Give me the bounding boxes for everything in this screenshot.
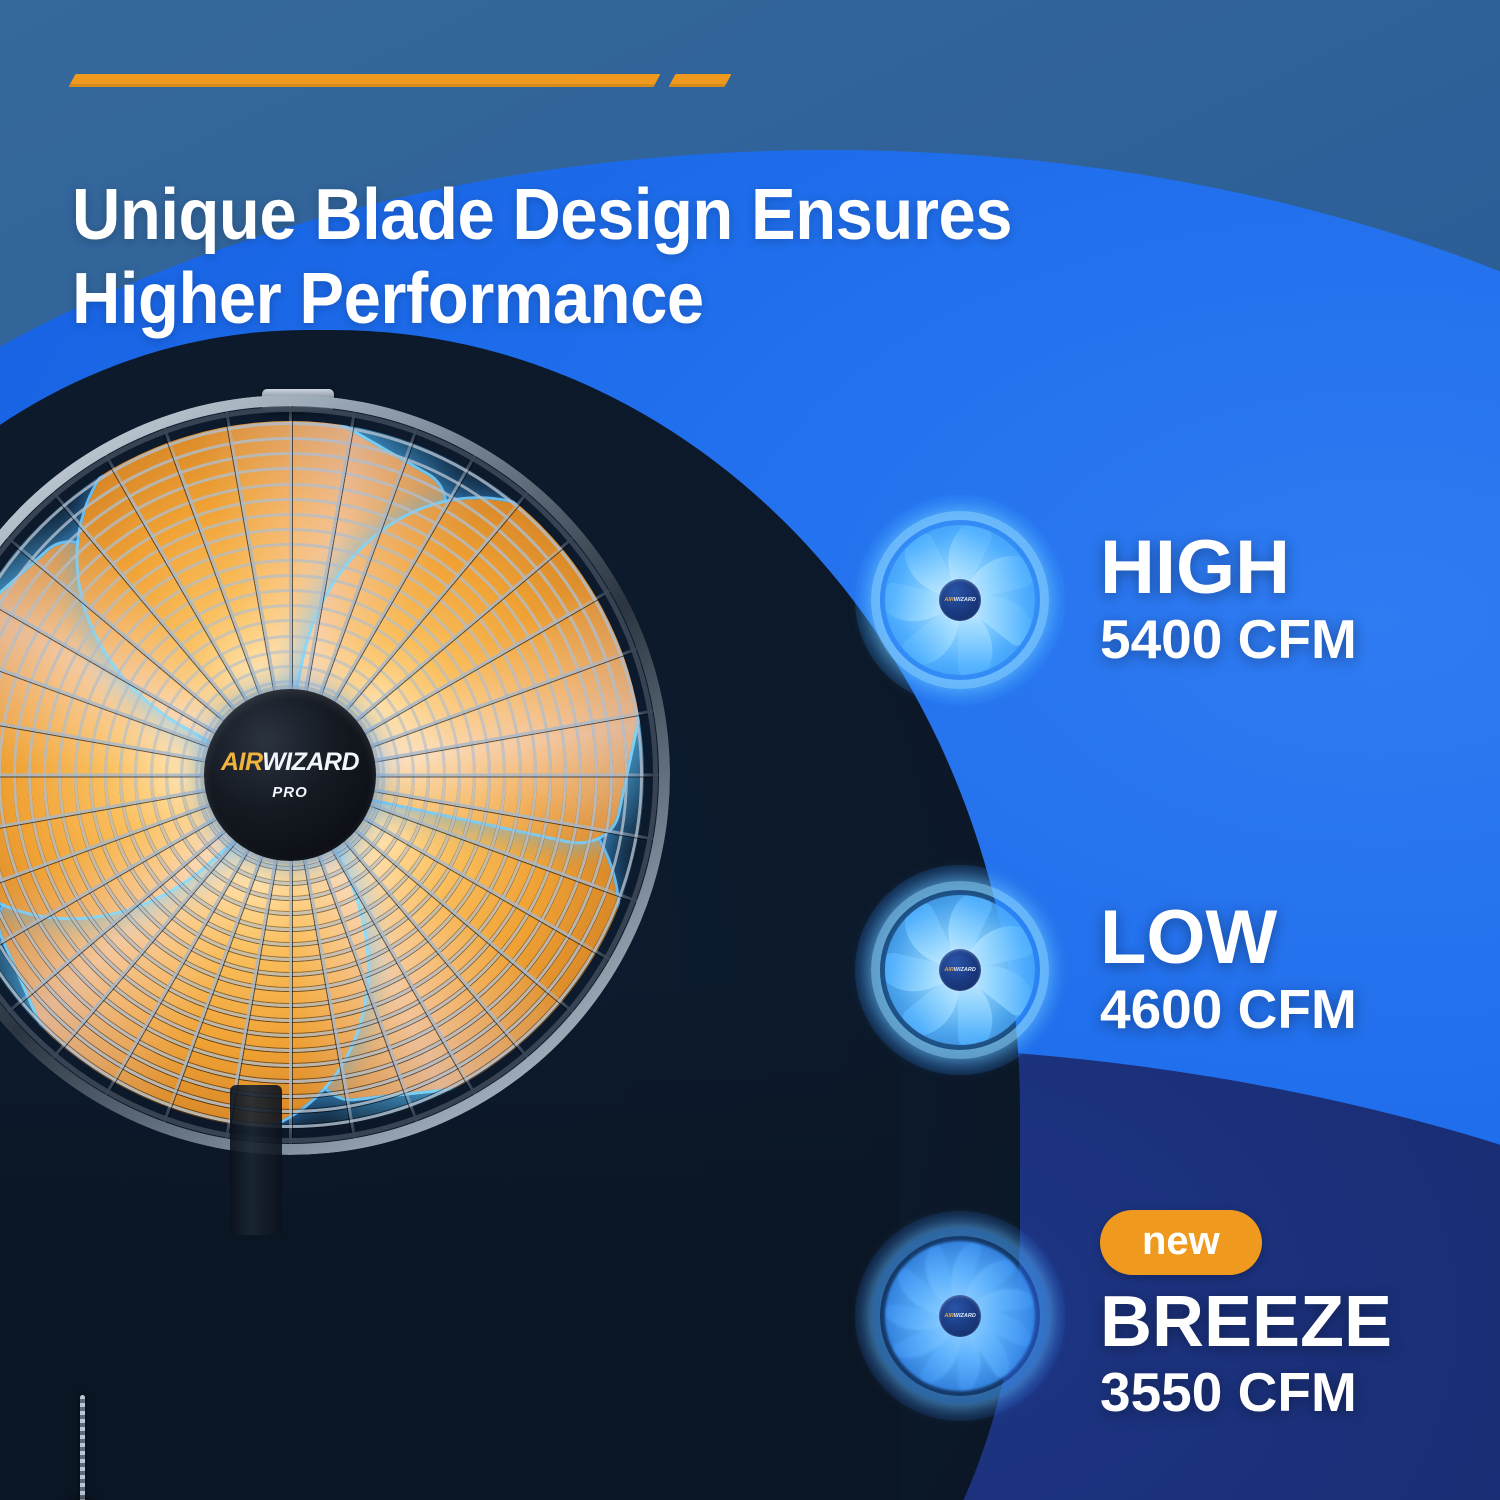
fan-icon-hub: AIRWIZARD [939,1295,981,1337]
spec-value-low: 4600 CFM [1100,981,1357,1039]
brand-wizard-text: WIZARD [262,748,359,776]
spec-label-high: HIGH [1100,531,1357,605]
brand-logo-text: AIRWIZARD [221,750,359,775]
accent-rule [72,70,732,94]
spec-row-high: AIRWIZARD HIGH 5400 CFM [860,500,1357,700]
fan-hub-logo: AIRWIZARD PRO [204,689,376,861]
fan-assembly: AIRWIZARD PRO [0,395,670,1155]
product-image-fan: AIRWIZARD PRO [0,395,720,1325]
brand-air-text: AIR [221,748,262,776]
spec-row-low: AIRWIZARD LOW 4600 CFM [860,870,1357,1070]
spec-row-breeze: AIRWIZARD new BREEZE 3550 CFM [860,1210,1392,1421]
fan-speed-icon-low: AIRWIZARD [860,870,1060,1070]
spec-text-high: HIGH 5400 CFM [1100,531,1357,669]
status-badge-new: new [1100,1210,1262,1275]
spec-value-breeze: 3550 CFM [1100,1364,1392,1422]
pull-chain-icon [80,1395,85,1500]
spec-value-high: 5400 CFM [1100,611,1357,669]
fan-icon-graphic: AIRWIZARD [860,870,1060,1070]
spec-label-breeze: BREEZE [1100,1287,1392,1358]
fan-speed-icon-high: AIRWIZARD [860,500,1060,700]
fan-speed-icon-breeze: AIRWIZARD [860,1216,1060,1416]
accent-rule-long-segment [69,74,661,87]
fan-neck [230,1085,282,1235]
page-title: Unique Blade Design Ensures Higher Perfo… [72,174,1142,341]
brand-sub-text: PRO [272,784,308,801]
product-marketing-banner: Unique Blade Design Ensures Higher Perfo… [0,0,1500,1500]
fan-icon-hub: AIRWIZARD [939,949,981,991]
accent-rule-short-segment [669,74,732,87]
fan-icon-graphic: AIRWIZARD [860,500,1060,700]
fan-icon-graphic: AIRWIZARD [860,1216,1060,1416]
spec-label-low: LOW [1100,901,1357,975]
spec-text-low: LOW 4600 CFM [1100,901,1357,1039]
fan-icon-hub: AIRWIZARD [939,579,981,621]
spec-text-breeze: new BREEZE 3550 CFM [1100,1210,1392,1421]
